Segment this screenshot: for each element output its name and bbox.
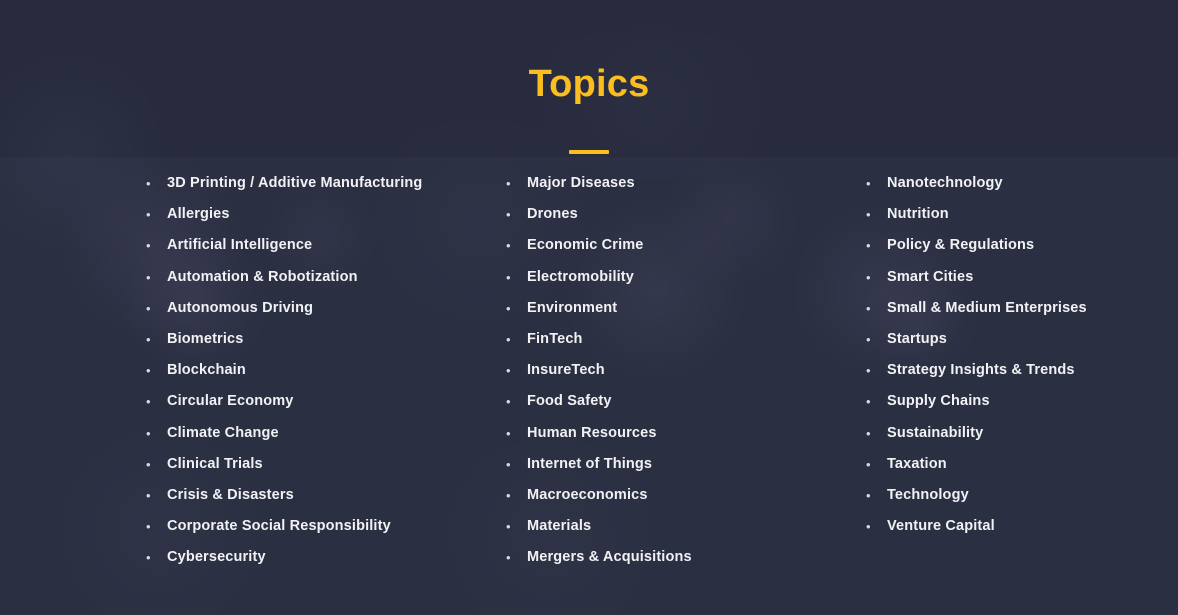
topic-label: Circular Economy bbox=[167, 394, 360, 409]
bullet-icon: • bbox=[141, 363, 167, 378]
topic-label: Taxation bbox=[887, 457, 1080, 472]
topic-list-item[interactable]: •Supply Chains bbox=[861, 394, 1080, 425]
topic-label: Policy & Regulations bbox=[887, 238, 1080, 253]
bullet-icon: • bbox=[501, 519, 527, 534]
topic-label: Automation & Robotization bbox=[167, 270, 360, 285]
topic-list-item[interactable]: •Policy & Regulations bbox=[861, 238, 1080, 269]
topic-list-item[interactable]: •Materials bbox=[501, 519, 720, 550]
topic-list-item[interactable]: •Major Diseases bbox=[501, 176, 720, 207]
topic-label: Blockchain bbox=[167, 363, 360, 378]
bullet-icon: • bbox=[141, 457, 167, 472]
topic-list-item[interactable]: •Small & Medium Enterprises bbox=[861, 301, 1080, 332]
topic-list-item[interactable]: •Startups bbox=[861, 332, 1080, 363]
topic-label: Mergers & Acquisitions bbox=[527, 550, 720, 565]
bullet-icon: • bbox=[501, 176, 527, 191]
topic-label: Climate Change bbox=[167, 426, 360, 441]
topic-list-item[interactable]: •Clinical Trials bbox=[141, 457, 360, 488]
bullet-icon: • bbox=[861, 332, 887, 347]
bullet-icon: • bbox=[861, 519, 887, 534]
bullet-icon: • bbox=[501, 270, 527, 285]
topic-list-item[interactable]: •Venture Capital bbox=[861, 519, 1080, 550]
topic-label: Corporate Social Responsibility bbox=[167, 519, 391, 534]
topic-label: Venture Capital bbox=[887, 519, 1080, 534]
bullet-icon: • bbox=[501, 394, 527, 409]
topic-list-item[interactable]: •FinTech bbox=[501, 332, 720, 363]
topic-list-item[interactable]: •Smart Cities bbox=[861, 270, 1080, 301]
bullet-icon: • bbox=[861, 488, 887, 503]
bullet-icon: • bbox=[141, 550, 167, 565]
topics-columns: •3D Printing / Additive Manufacturing•Al… bbox=[0, 176, 1178, 581]
topic-list-item[interactable]: •Autonomous Driving bbox=[141, 301, 360, 332]
topic-label: Materials bbox=[527, 519, 720, 534]
topic-label: Internet of Things bbox=[527, 457, 720, 472]
topic-label: Strategy Insights & Trends bbox=[887, 363, 1080, 378]
bullet-icon: • bbox=[141, 176, 167, 191]
topic-label: Crisis & Disasters bbox=[167, 488, 360, 503]
bullet-icon: • bbox=[861, 176, 887, 191]
bullet-icon: • bbox=[501, 488, 527, 503]
bullet-icon: • bbox=[861, 426, 887, 441]
topic-list-item[interactable]: •Biometrics bbox=[141, 332, 360, 363]
bullet-icon: • bbox=[141, 207, 167, 222]
bullet-icon: • bbox=[861, 270, 887, 285]
topic-label: Economic Crime bbox=[527, 238, 720, 253]
topic-list-item[interactable]: •Drones bbox=[501, 207, 720, 238]
topic-list-item[interactable]: •Electromobility bbox=[501, 270, 720, 301]
bullet-icon: • bbox=[501, 238, 527, 253]
topic-label: Environment bbox=[527, 301, 720, 316]
topic-list-item[interactable]: •InsureTech bbox=[501, 363, 720, 394]
bullet-icon: • bbox=[861, 363, 887, 378]
topic-list-item[interactable]: •Climate Change bbox=[141, 426, 360, 457]
topic-list-item[interactable]: •Macroeconomics bbox=[501, 488, 720, 519]
topic-label: Electromobility bbox=[527, 270, 720, 285]
topic-label: Technology bbox=[887, 488, 1080, 503]
bullet-icon: • bbox=[141, 301, 167, 316]
topic-list-item[interactable]: •Strategy Insights & Trends bbox=[861, 363, 1080, 394]
topic-list-item[interactable]: •3D Printing / Additive Manufacturing bbox=[141, 176, 360, 207]
topic-list-item[interactable]: •Food Safety bbox=[501, 394, 720, 425]
topic-list-item[interactable]: •Automation & Robotization bbox=[141, 270, 360, 301]
topic-list-item[interactable]: •Environment bbox=[501, 301, 720, 332]
topic-label: InsureTech bbox=[527, 363, 720, 378]
title-divider bbox=[569, 150, 609, 154]
topic-list-item[interactable]: •Artificial Intelligence bbox=[141, 238, 360, 269]
bullet-icon: • bbox=[141, 519, 167, 534]
topic-label: Cybersecurity bbox=[167, 550, 360, 565]
topic-label: Clinical Trials bbox=[167, 457, 360, 472]
topic-label: Biometrics bbox=[167, 332, 360, 347]
topic-label: Drones bbox=[527, 207, 720, 222]
bullet-icon: • bbox=[501, 207, 527, 222]
topic-list-item[interactable]: •Nanotechnology bbox=[861, 176, 1080, 207]
topic-list-item[interactable]: •Economic Crime bbox=[501, 238, 720, 269]
bullet-icon: • bbox=[501, 550, 527, 565]
topic-list-item[interactable]: •Sustainability bbox=[861, 426, 1080, 457]
bullet-icon: • bbox=[861, 207, 887, 222]
topic-list-item[interactable]: •Cybersecurity bbox=[141, 550, 360, 581]
topics-column-2: •Major Diseases•Drones•Economic Crime•El… bbox=[360, 176, 720, 581]
bullet-icon: • bbox=[141, 394, 167, 409]
topics-column-1: •3D Printing / Additive Manufacturing•Al… bbox=[0, 176, 360, 581]
topic-list-item[interactable]: •Crisis & Disasters bbox=[141, 488, 360, 519]
topic-label: Supply Chains bbox=[887, 394, 1080, 409]
topic-list-item[interactable]: •Corporate Social Responsibility bbox=[141, 519, 360, 550]
topic-label: FinTech bbox=[527, 332, 720, 347]
topic-label: Smart Cities bbox=[887, 270, 1080, 285]
bullet-icon: • bbox=[861, 394, 887, 409]
bullet-icon: • bbox=[861, 457, 887, 472]
topics-column-3: •Nanotechnology•Nutrition•Policy & Regul… bbox=[720, 176, 1080, 581]
topic-list-item[interactable]: •Allergies bbox=[141, 207, 360, 238]
bullet-icon: • bbox=[141, 270, 167, 285]
topic-label: Startups bbox=[887, 332, 1080, 347]
bullet-icon: • bbox=[861, 238, 887, 253]
bullet-icon: • bbox=[141, 488, 167, 503]
bullet-icon: • bbox=[501, 301, 527, 316]
topic-list-item[interactable]: •Circular Economy bbox=[141, 394, 360, 425]
page-title: Topics bbox=[0, 65, 1178, 103]
bullet-icon: • bbox=[141, 238, 167, 253]
bullet-icon: • bbox=[501, 457, 527, 472]
topic-label: Food Safety bbox=[527, 394, 720, 409]
bullet-icon: • bbox=[861, 301, 887, 316]
topic-list-item[interactable]: •Blockchain bbox=[141, 363, 360, 394]
topic-label: Small & Medium Enterprises bbox=[887, 301, 1087, 316]
bullet-icon: • bbox=[141, 332, 167, 347]
topic-label: Autonomous Driving bbox=[167, 301, 360, 316]
topic-list-item[interactable]: •Taxation bbox=[861, 457, 1080, 488]
bullet-icon: • bbox=[501, 426, 527, 441]
topic-label: Allergies bbox=[167, 207, 360, 222]
topic-label: Human Resources bbox=[527, 426, 720, 441]
topic-list-item[interactable]: •Human Resources bbox=[501, 426, 720, 457]
topic-label: Macroeconomics bbox=[527, 488, 720, 503]
topic-list-item[interactable]: •Internet of Things bbox=[501, 457, 720, 488]
topic-label: Nanotechnology bbox=[887, 176, 1080, 191]
bullet-icon: • bbox=[501, 332, 527, 347]
topic-list-item[interactable]: •Technology bbox=[861, 488, 1080, 519]
topic-label: Sustainability bbox=[887, 426, 1080, 441]
topic-list-item[interactable]: •Mergers & Acquisitions bbox=[501, 550, 720, 581]
topics-page: Topics •3D Printing / Additive Manufactu… bbox=[0, 0, 1178, 615]
bullet-icon: • bbox=[501, 363, 527, 378]
topic-list-item[interactable]: •Nutrition bbox=[861, 207, 1080, 238]
topic-label: Major Diseases bbox=[527, 176, 720, 191]
topic-label: Nutrition bbox=[887, 207, 1080, 222]
bullet-icon: • bbox=[141, 426, 167, 441]
topic-label: Artificial Intelligence bbox=[167, 238, 360, 253]
